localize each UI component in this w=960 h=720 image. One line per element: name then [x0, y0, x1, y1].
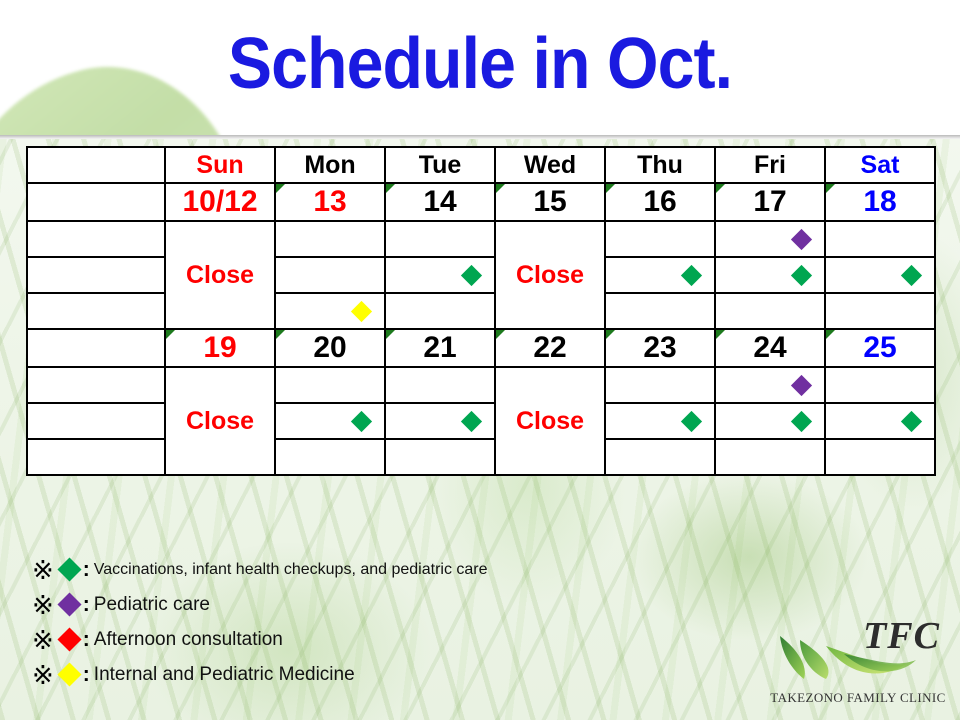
- date-cell-15[interactable]: 15: [495, 183, 605, 221]
- marker-green-diamond-icon: [461, 410, 482, 431]
- header-divider: [0, 135, 960, 139]
- slot-label: Open: [731, 374, 790, 397]
- slot-open-20-1[interactable]: Open: [275, 403, 385, 439]
- slot-open-25-2[interactable]: Open: [825, 439, 935, 475]
- slot-row: 15:00〜17：00OpenOpenOpenOpenOpen: [27, 403, 935, 439]
- closed-cell-15[interactable]: Close: [495, 221, 605, 329]
- slot-label: Open: [851, 228, 910, 251]
- day-header-thu: Thu: [605, 147, 715, 183]
- day-header-wed: Wed: [495, 147, 605, 183]
- corner-triangle-icon: [496, 330, 505, 339]
- day-header-sat: Sat: [825, 147, 935, 183]
- marker-purple-diamond-icon: [791, 374, 812, 395]
- slot-open-20-2[interactable]: Open: [275, 439, 385, 475]
- corner-triangle-icon: [166, 330, 175, 339]
- legend-yellow-diamond-icon: [57, 662, 81, 686]
- date-cell-18[interactable]: 18: [825, 183, 935, 221]
- closed-cell-19[interactable]: Close: [165, 367, 275, 475]
- slot-label: Open: [301, 374, 360, 397]
- time-label-2: 17:00〜22：00: [27, 293, 165, 329]
- day-header-mon: Mon: [275, 147, 385, 183]
- reference-mark-icon: ※: [32, 557, 54, 583]
- corner-triangle-icon: [716, 330, 725, 339]
- marker-green-diamond-icon: [901, 264, 922, 285]
- legend-item-3: ※: Internal and Pediatric Medicine: [32, 657, 732, 692]
- slot-label: Open: [301, 446, 360, 469]
- reference-mark-icon: ※: [32, 627, 54, 653]
- date-cell-25[interactable]: 25: [825, 329, 935, 367]
- time-label-1: 15:00〜17：00: [27, 403, 165, 439]
- marker-green-diamond-icon: [681, 264, 702, 285]
- slot-label: Open: [291, 410, 350, 433]
- marker-green-diamond-icon: [351, 410, 372, 431]
- slot-label: Open: [291, 300, 350, 323]
- slot-open-24-0[interactable]: Open: [715, 367, 825, 403]
- date-row-spacer: [27, 329, 165, 367]
- slot-open-23-1[interactable]: Open: [605, 403, 715, 439]
- slot-label: Open: [621, 410, 680, 433]
- slot-label: Open: [841, 410, 900, 433]
- slot-label: Open: [731, 410, 790, 433]
- slot-label: Open: [411, 300, 470, 323]
- legend-item-0: ※:Vaccinations, infant health checkups, …: [32, 552, 732, 587]
- date-cell-23[interactable]: 23: [605, 329, 715, 367]
- slot-label: Open: [631, 446, 690, 469]
- legend-colon: :: [83, 628, 90, 652]
- corner-triangle-icon: [276, 330, 285, 339]
- corner-triangle-icon: [826, 184, 835, 193]
- date-cell-17[interactable]: 17: [715, 183, 825, 221]
- legend-colon: :: [83, 558, 90, 582]
- slot-open-25-0[interactable]: Open: [825, 367, 935, 403]
- date-cell-24[interactable]: 24: [715, 329, 825, 367]
- slot-open-24-1[interactable]: Open: [715, 403, 825, 439]
- slot-label: Open: [631, 374, 690, 397]
- date-cell-14[interactable]: 14: [385, 183, 495, 221]
- slot-label: Open: [631, 300, 690, 323]
- slot-open-17-1[interactable]: Open: [715, 257, 825, 293]
- marker-green-diamond-icon: [901, 410, 922, 431]
- slot-label: Open: [741, 300, 800, 323]
- date-cell-10-12[interactable]: 10/12: [165, 183, 275, 221]
- closed-cell-10-12[interactable]: Close: [165, 221, 275, 329]
- corner-triangle-icon: [386, 184, 395, 193]
- date-cell-19[interactable]: 19: [165, 329, 275, 367]
- slot-open-25-1[interactable]: Open: [825, 403, 935, 439]
- corner-triangle-icon: [496, 184, 505, 193]
- slot-label: Open: [841, 264, 900, 287]
- slot-label: Open: [631, 228, 690, 251]
- slot-row: 15:00〜17：00OpenOpenOpenOpen: [27, 257, 935, 293]
- slot-label: Open: [741, 446, 800, 469]
- legend-green-diamond-icon: [57, 557, 81, 581]
- closed-cell-22[interactable]: Close: [495, 367, 605, 475]
- legend-purple-diamond-icon: [57, 592, 81, 616]
- slot-open-16-1[interactable]: Open: [605, 257, 715, 293]
- slot-open-13-2[interactable]: Open: [275, 293, 385, 329]
- slot-row: 17:00〜22：00OpenOpenOpenOpenOpen: [27, 293, 935, 329]
- day-header-row: SunMonTueWedThuFriSat: [27, 147, 935, 183]
- date-cell-21[interactable]: 21: [385, 329, 495, 367]
- date-cell-22[interactable]: 22: [495, 329, 605, 367]
- legend-text: Afternoon consultation: [94, 629, 283, 651]
- slot-open-21-1[interactable]: Open: [385, 403, 495, 439]
- leaf-blades-icon: [774, 634, 924, 680]
- time-label-1: 15:00〜17：00: [27, 257, 165, 293]
- marker-green-diamond-icon: [791, 264, 812, 285]
- time-label-2: 17:00〜22：00: [27, 439, 165, 475]
- clinic-logo: TFC TAKEZONO FAMILY CLINIC: [768, 612, 948, 712]
- slot-label: Open: [851, 374, 910, 397]
- legend: ※:Vaccinations, infant health checkups, …: [32, 552, 732, 692]
- slot-open-18-1[interactable]: Open: [825, 257, 935, 293]
- marker-green-diamond-icon: [461, 264, 482, 285]
- slot-row: 9:00〜12：00CloseCloseOpenOpenOpen: [27, 221, 935, 257]
- date-row: 10/12131415161718: [27, 183, 935, 221]
- corner-triangle-icon: [276, 184, 285, 193]
- slot-closed-13-1[interactable]: [275, 257, 385, 293]
- slot-label: Open: [731, 264, 790, 287]
- reference-mark-icon: ※: [32, 662, 54, 688]
- marker-purple-diamond-icon: [791, 228, 812, 249]
- date-cell-20[interactable]: 20: [275, 329, 385, 367]
- slot-label: Open: [731, 228, 790, 251]
- slot-open-16-0[interactable]: Open: [605, 221, 715, 257]
- slot-label: Open: [401, 264, 460, 287]
- slot-open-20-0[interactable]: Open: [275, 367, 385, 403]
- slot-label: Open: [851, 300, 910, 323]
- slot-label: Open: [411, 446, 470, 469]
- slot-open-24-2[interactable]: Open: [715, 439, 825, 475]
- page-title: Schedule in Oct.: [38, 22, 921, 106]
- slot-label: Open: [621, 264, 680, 287]
- date-cell-13[interactable]: 13: [275, 183, 385, 221]
- corner-triangle-icon: [606, 330, 615, 339]
- date-cell-16[interactable]: 16: [605, 183, 715, 221]
- reference-mark-icon: ※: [32, 592, 54, 618]
- legend-red-diamond-icon: [57, 627, 81, 651]
- legend-colon: :: [83, 663, 90, 687]
- slot-open-23-0[interactable]: Open: [605, 367, 715, 403]
- date-row: 19202122232425: [27, 329, 935, 367]
- slot-open-23-2[interactable]: Open: [605, 439, 715, 475]
- corner-triangle-icon: [606, 184, 615, 193]
- marker-yellow-diamond-icon: [351, 300, 372, 321]
- corner-triangle-icon: [826, 330, 835, 339]
- legend-colon: :: [83, 593, 90, 617]
- legend-text: Pediatric care: [94, 594, 210, 616]
- slot-closed-13-0[interactable]: [275, 221, 385, 257]
- legend-item-2: ※:Afternoon consultation: [32, 622, 732, 657]
- legend-text: Internal and Pediatric Medicine: [94, 664, 355, 686]
- slot-open-14-1[interactable]: Open: [385, 257, 495, 293]
- slot-open-18-2[interactable]: Open: [825, 293, 935, 329]
- slot-open-17-2[interactable]: Open: [715, 293, 825, 329]
- day-header-fri: Fri: [715, 147, 825, 183]
- logo-clinic-name: TAKEZONO FAMILY CLINIC: [768, 690, 948, 706]
- time-label-0: 9:00〜12：00: [27, 221, 165, 257]
- slot-label: Open: [401, 410, 460, 433]
- legend-text: Vaccinations, infant health checkups, an…: [94, 561, 488, 579]
- corner-triangle-icon: [386, 330, 395, 339]
- slot-row: 9:00〜12：00CloseOpenCloseOpenOpenOpen: [27, 367, 935, 403]
- table-corner-cell: [27, 147, 165, 183]
- slot-closed-14-0[interactable]: [385, 221, 495, 257]
- day-header-sun: Sun: [165, 147, 275, 183]
- marker-green-diamond-icon: [681, 410, 702, 431]
- slot-open-14-2[interactable]: Open: [385, 293, 495, 329]
- time-label-0: 9:00〜12：00: [27, 367, 165, 403]
- corner-triangle-icon: [716, 184, 725, 193]
- marker-green-diamond-icon: [791, 410, 812, 431]
- slot-label: Open: [851, 446, 910, 469]
- slot-open-16-2[interactable]: Open: [605, 293, 715, 329]
- slot-closed-21-0[interactable]: [385, 367, 495, 403]
- date-row-spacer: [27, 183, 165, 221]
- legend-item-1: ※:Pediatric care: [32, 587, 732, 622]
- slot-open-18-0[interactable]: Open: [825, 221, 935, 257]
- slot-open-17-0[interactable]: Open: [715, 221, 825, 257]
- slot-row: 17:00〜22：00OpenOpenOpenOpenOpen: [27, 439, 935, 475]
- slot-open-21-2[interactable]: Open: [385, 439, 495, 475]
- day-header-tue: Tue: [385, 147, 495, 183]
- schedule-table: SunMonTueWedThuFriSat10/121314151617189:…: [26, 146, 936, 476]
